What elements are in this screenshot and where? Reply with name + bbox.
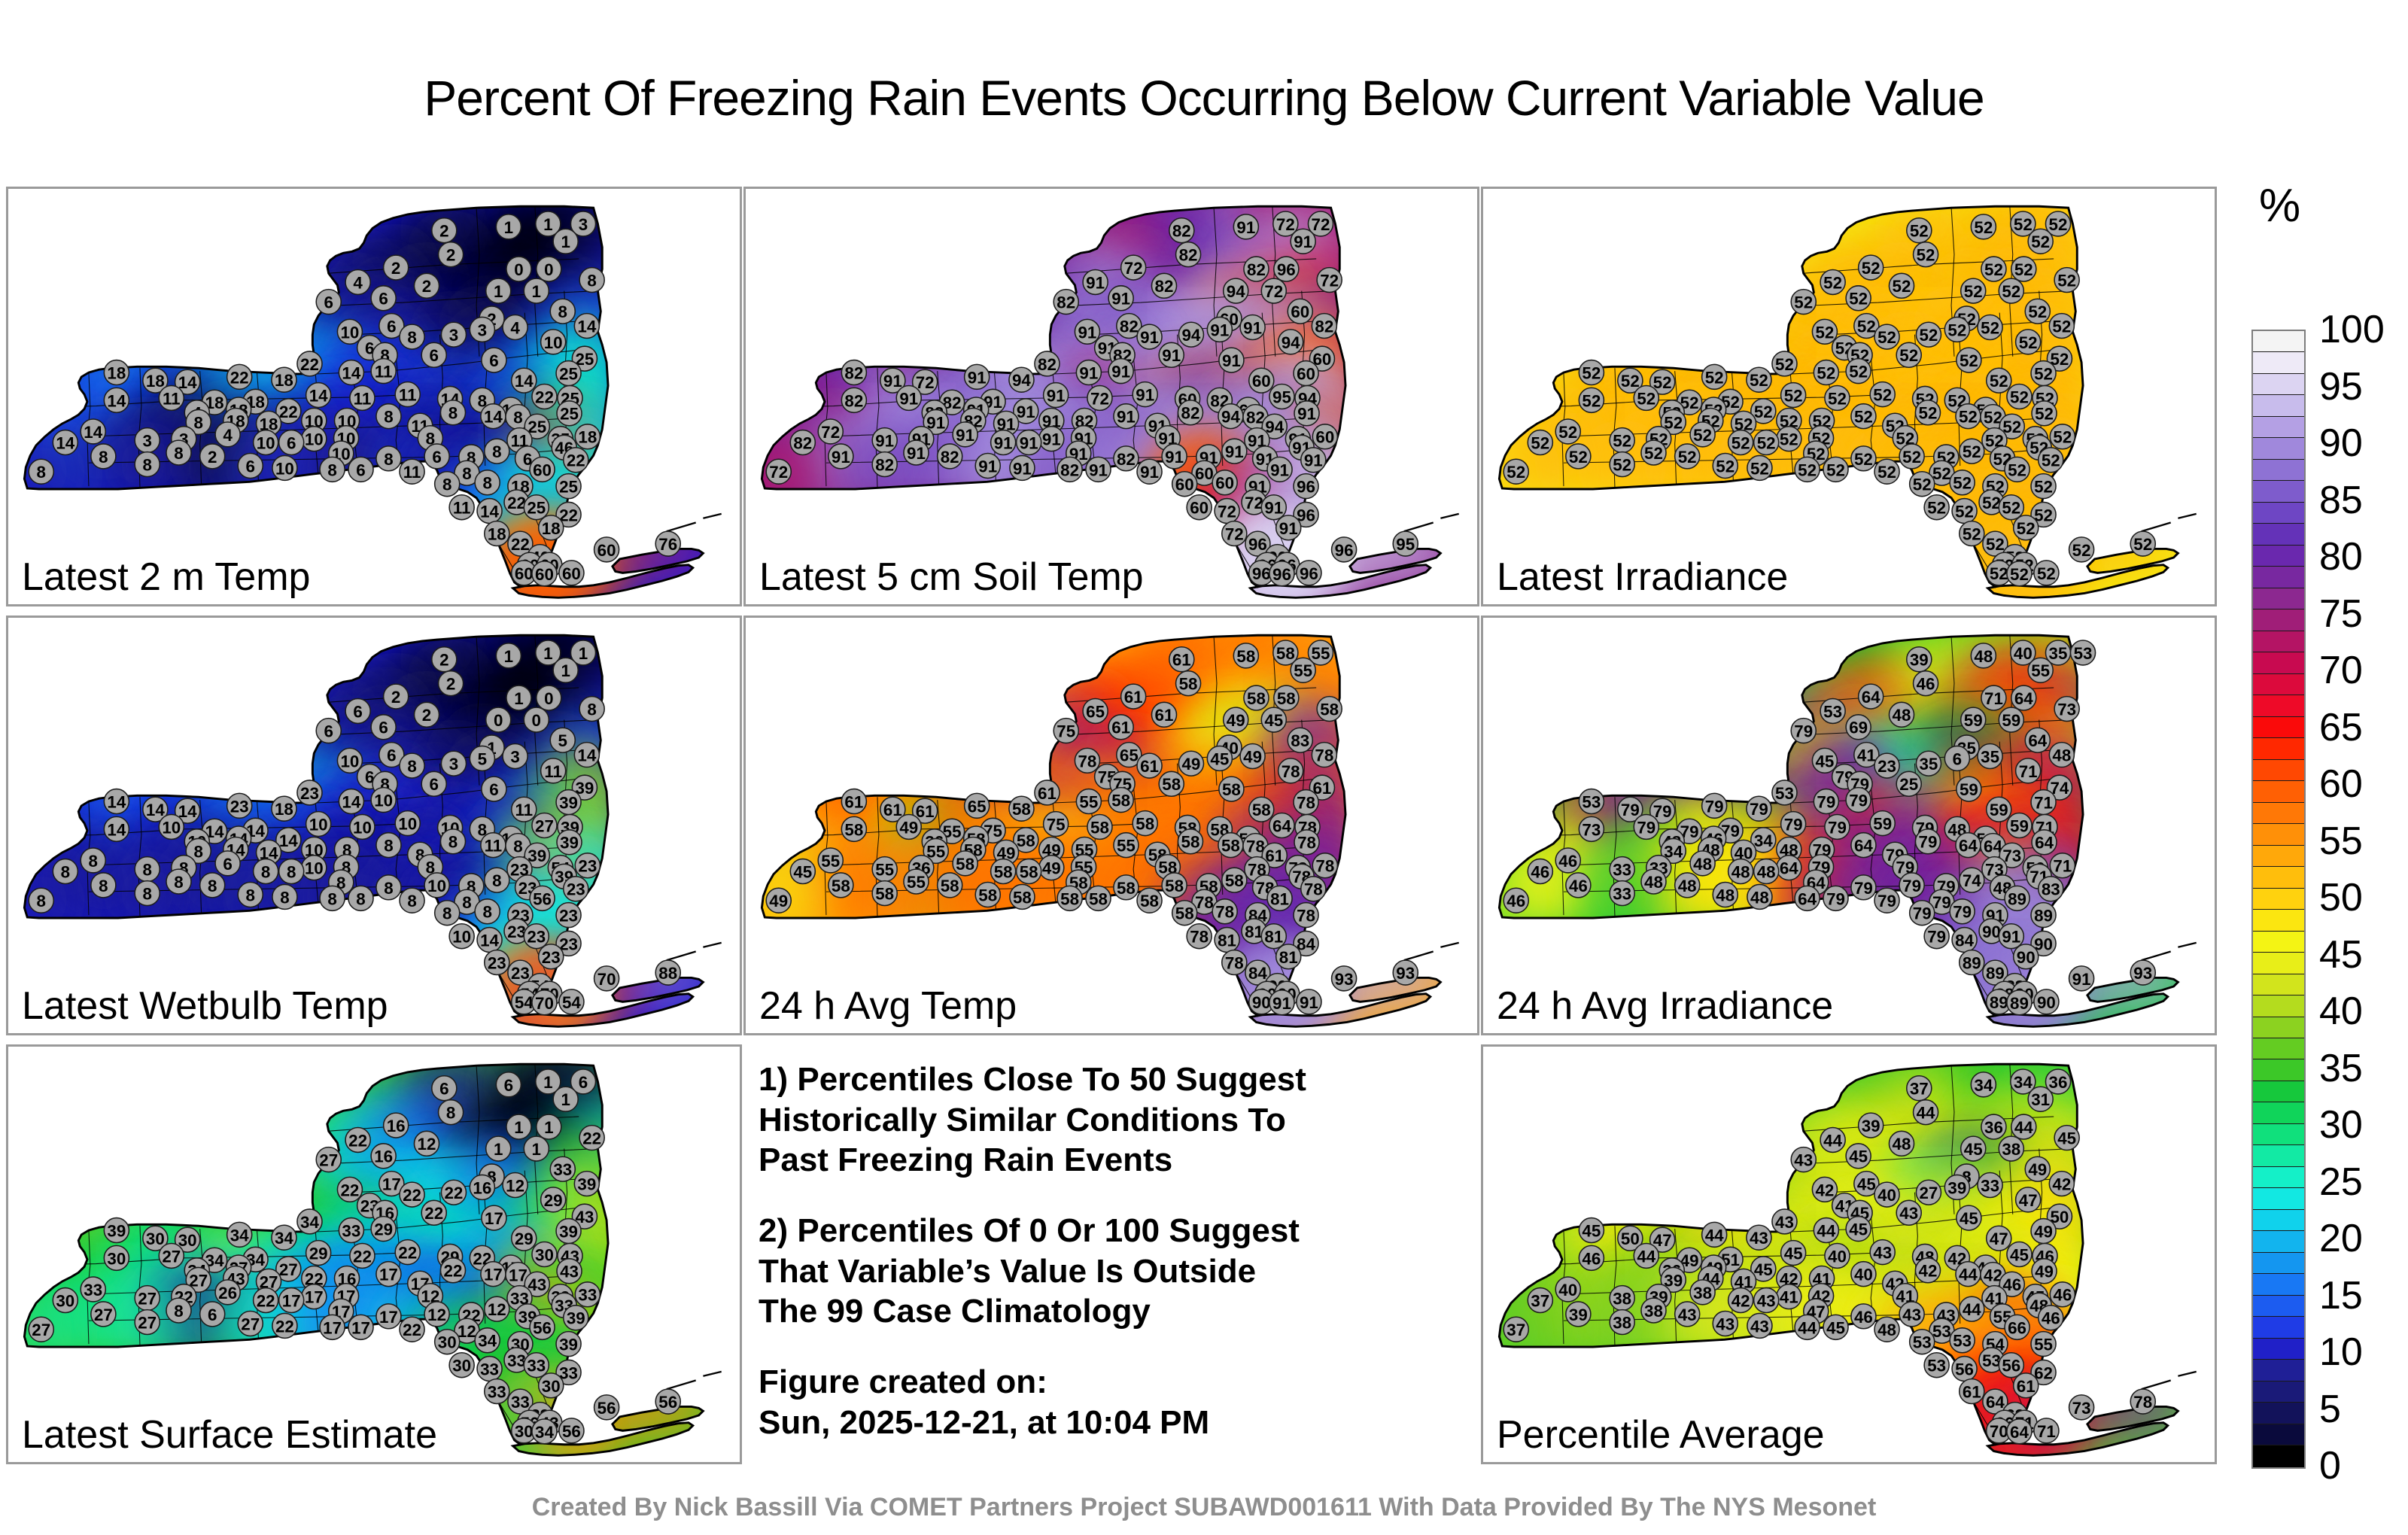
colorbar-band — [2253, 910, 2304, 931]
panel-label-percentile-average: Percentile Average — [1497, 1412, 1825, 1457]
colorbar-band — [2253, 1059, 2304, 1081]
colorbar-band — [2253, 438, 2304, 459]
colorbar-band — [2253, 1403, 2304, 1424]
colorbar-band — [2253, 867, 2304, 888]
colorbar-tick-0: 0 — [2319, 1446, 2341, 1485]
colorbar-band — [2253, 1124, 2304, 1145]
colorbar-band — [2253, 824, 2304, 845]
colorbar-band — [2253, 760, 2304, 781]
panel-label-latest-wetbulb-temp: Latest Wetbulb Temp — [22, 983, 388, 1029]
colorbar-band — [2253, 374, 2304, 395]
colorbar-band — [2253, 631, 2304, 652]
colorbar-tick-55: 55 — [2319, 822, 2363, 861]
colorbar-tick-5: 5 — [2319, 1390, 2341, 1429]
colorbar-band — [2253, 717, 2304, 738]
colorbar-tick-80: 80 — [2319, 537, 2363, 576]
colorbar-band — [2253, 1424, 2304, 1445]
colorbar-band — [2253, 331, 2304, 352]
colorbar-band — [2253, 889, 2304, 910]
colorbar-band — [2253, 1274, 2304, 1295]
colorbar-band — [2253, 1339, 2304, 1360]
colorbar-band — [2253, 781, 2304, 802]
colorbar-band — [2253, 503, 2304, 524]
colorbar-band — [2253, 1210, 2304, 1231]
colorbar-tick-20: 20 — [2319, 1219, 2363, 1258]
panel-label-24h-avg-temp: 24 h Avg Temp — [759, 983, 1017, 1029]
colorbar-band — [2253, 674, 2304, 695]
colorbar-band — [2253, 846, 2304, 867]
colorbar-band — [2253, 546, 2304, 567]
colorbar-tick-25: 25 — [2319, 1163, 2363, 1202]
colorbar-tick-40: 40 — [2319, 992, 2363, 1031]
footer-credit: Created By Nick Bassill Via COMET Partne… — [0, 1493, 2408, 1522]
colorbar-tick-35: 35 — [2319, 1049, 2363, 1088]
colorbar: % 10095908580757065605550454035302520151… — [0, 0, 2408, 1535]
colorbar-band — [2253, 1188, 2304, 1209]
colorbar-tick-15: 15 — [2319, 1276, 2363, 1315]
colorbar-band — [2253, 1167, 2304, 1188]
panel-label-latest-surface-estimate: Latest Surface Estimate — [22, 1412, 437, 1457]
colorbar-band — [2253, 695, 2304, 716]
colorbar-band — [2253, 1381, 2304, 1403]
colorbar-band — [2253, 1038, 2304, 1059]
colorbar-band — [2253, 481, 2304, 502]
colorbar-gradient — [2251, 330, 2306, 1469]
colorbar-tick-60: 60 — [2319, 764, 2363, 804]
colorbar-tick-10: 10 — [2319, 1333, 2363, 1372]
colorbar-band — [2253, 395, 2304, 416]
colorbar-band — [2253, 1296, 2304, 1317]
panel-label-latest-5cm-soil-temp: Latest 5 cm Soil Temp — [759, 555, 1144, 600]
colorbar-band — [2253, 738, 2304, 759]
colorbar-band — [2253, 652, 2304, 673]
colorbar-tick-70: 70 — [2319, 651, 2363, 690]
colorbar-tick-65: 65 — [2319, 708, 2363, 747]
colorbar-tick-100: 100 — [2319, 310, 2385, 349]
colorbar-tick-75: 75 — [2319, 594, 2363, 634]
colorbar-band — [2253, 1017, 2304, 1038]
colorbar-band — [2253, 588, 2304, 609]
colorbar-band — [2253, 1081, 2304, 1102]
colorbar-band — [2253, 1445, 2304, 1467]
colorbar-band — [2253, 1317, 2304, 1338]
colorbar-band — [2253, 803, 2304, 824]
colorbar-band — [2253, 1145, 2304, 1166]
colorbar-tick-50: 50 — [2319, 878, 2363, 917]
colorbar-band — [2253, 417, 2304, 438]
panel-label-latest-2m-temp: Latest 2 m Temp — [22, 555, 310, 600]
colorbar-band — [2253, 1360, 2304, 1381]
panel-label-latest-irradiance: Latest Irradiance — [1497, 555, 1788, 600]
colorbar-band — [2253, 524, 2304, 545]
colorbar-tick-90: 90 — [2319, 424, 2363, 463]
colorbar-tick-95: 95 — [2319, 367, 2363, 406]
colorbar-tick-85: 85 — [2319, 481, 2363, 520]
panel-label-24h-avg-irradiance: 24 h Avg Irradiance — [1497, 983, 1833, 1029]
colorbar-band — [2253, 1231, 2304, 1252]
colorbar-band — [2253, 953, 2304, 974]
colorbar-band — [2253, 995, 2304, 1017]
colorbar-tick-45: 45 — [2319, 935, 2363, 974]
colorbar-band — [2253, 932, 2304, 953]
colorbar-band — [2253, 352, 2304, 373]
colorbar-tick-30: 30 — [2319, 1105, 2363, 1144]
colorbar-band — [2253, 460, 2304, 481]
colorbar-band — [2253, 1102, 2304, 1123]
colorbar-band — [2253, 1253, 2304, 1274]
colorbar-unit-label: % — [2259, 179, 2300, 233]
colorbar-band — [2253, 567, 2304, 588]
colorbar-band — [2253, 974, 2304, 995]
colorbar-band — [2253, 609, 2304, 631]
